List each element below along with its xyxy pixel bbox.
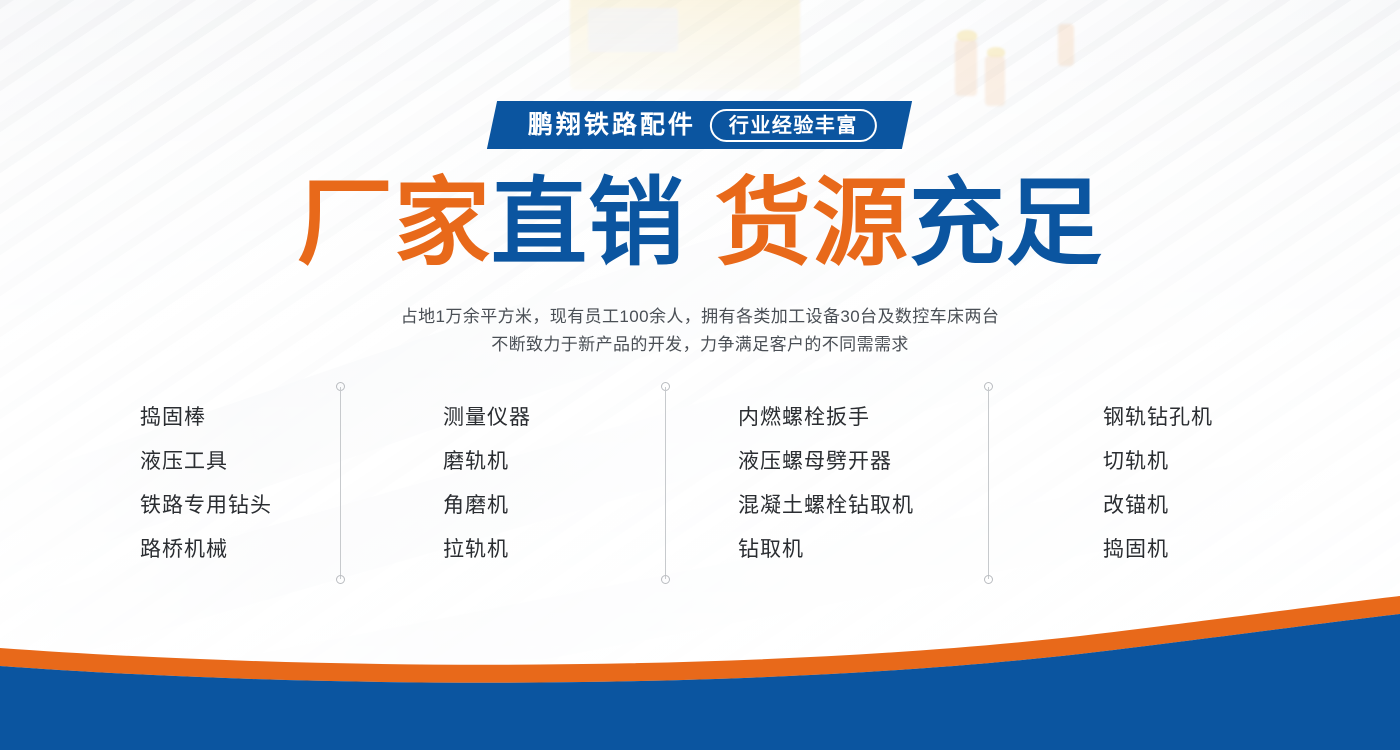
product-item[interactable]: 改锚机 [1103, 484, 1213, 528]
product-item[interactable]: 混凝土螺栓钻取机 [738, 484, 914, 528]
product-item[interactable]: 液压螺母劈开器 [738, 440, 914, 484]
product-item[interactable]: 内燃螺栓扳手 [738, 396, 914, 440]
headline-segment-1: 厂家 [297, 172, 491, 276]
product-item[interactable]: 磨轨机 [443, 440, 531, 484]
product-item[interactable]: 测量仪器 [443, 396, 531, 440]
headline-segment-4: 充足 [909, 172, 1103, 276]
brand-badge: 鹏翔铁路配件 行业经验丰富 [0, 101, 1400, 149]
product-item[interactable]: 液压工具 [140, 440, 272, 484]
brand-name: 鹏翔铁路配件 [528, 113, 696, 138]
product-item[interactable]: 角磨机 [443, 484, 531, 528]
headline: 厂家直销货源充足 [0, 172, 1400, 276]
experience-tag: 行业经验丰富 [711, 109, 878, 142]
product-item[interactable]: 钢轨钻孔机 [1103, 396, 1213, 440]
brand-badge-inner: 鹏翔铁路配件 行业经验丰富 [487, 101, 912, 149]
bottom-wave-decoration [0, 540, 1400, 750]
product-item[interactable]: 切轨机 [1103, 440, 1213, 484]
product-item[interactable]: 捣固棒 [140, 396, 272, 440]
subtitle-line-1: 占地1万余平方米，现有员工100余人，拥有各类加工设备30台及数控车床两台 [0, 303, 1400, 331]
product-item[interactable]: 铁路专用钻头 [140, 484, 272, 528]
subtitle-line-2: 不断致力于新产品的开发，力争满足客户的不同需需求 [0, 331, 1400, 359]
headline-segment-2: 直销 [491, 172, 685, 276]
headline-segment-3: 货源 [715, 172, 909, 276]
promo-banner: 鹏翔铁路配件 行业经验丰富 厂家直销货源充足 占地1万余平方米，现有员工100余… [0, 0, 1400, 750]
subtitle: 占地1万余平方米，现有员工100余人，拥有各类加工设备30台及数控车床两台 不断… [0, 303, 1400, 359]
